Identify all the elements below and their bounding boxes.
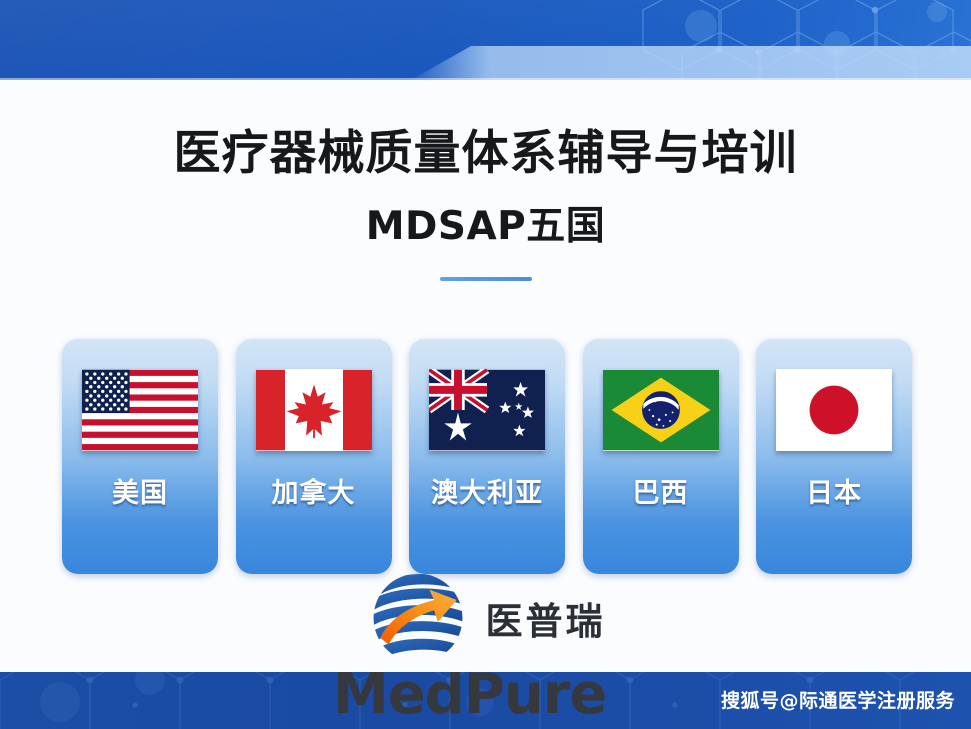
globe-arrow-logo-icon — [366, 566, 470, 670]
country-card-label: 澳大利亚 — [431, 471, 543, 510]
flag-brazil-icon — [603, 369, 719, 451]
brand-logo-text: 医普瑞 — [486, 591, 606, 645]
footer-band: MedPure 搜狐号@际通医学注册服务 — [0, 672, 971, 729]
flag-australia-icon — [429, 369, 545, 451]
country-card-label: 巴西 — [633, 471, 689, 510]
title-block: 医疗器械质量体系辅导与培训 MDSAP五国 — [0, 128, 971, 281]
page-subtitle: MDSAP五国 — [0, 195, 971, 251]
country-card-japan[interactable]: 日本 — [756, 338, 912, 574]
country-card-list: 美国 加拿大 — [62, 338, 912, 574]
flag-canada-icon — [256, 369, 372, 451]
country-card-brazil[interactable]: 巴西 — [583, 338, 739, 574]
country-card-canada[interactable]: 加拿大 — [236, 338, 392, 574]
brand-logo-row: 医普瑞 — [0, 566, 971, 670]
flag-japan-icon — [776, 369, 892, 451]
country-card-label: 日本 — [806, 471, 862, 510]
page-title: 医疗器械质量体系辅导与培训 — [0, 128, 971, 181]
flag-us-icon — [82, 369, 198, 451]
title-accent-rule — [440, 277, 532, 281]
country-card-us[interactable]: 美国 — [62, 338, 218, 574]
header-band — [0, 0, 971, 80]
slide-root: 医疗器械质量体系辅导与培训 MDSAP五国 — [0, 0, 971, 729]
header-bottom-line — [0, 78, 971, 80]
header-diagonal-band — [411, 46, 971, 80]
footer-credit: 搜狐号@际通医学注册服务 — [721, 686, 955, 713]
country-card-australia[interactable]: 澳大利亚 — [409, 338, 565, 574]
footer-watermark: MedPure — [333, 672, 606, 727]
country-card-label: 美国 — [112, 471, 168, 510]
country-card-label: 加拿大 — [272, 471, 356, 510]
